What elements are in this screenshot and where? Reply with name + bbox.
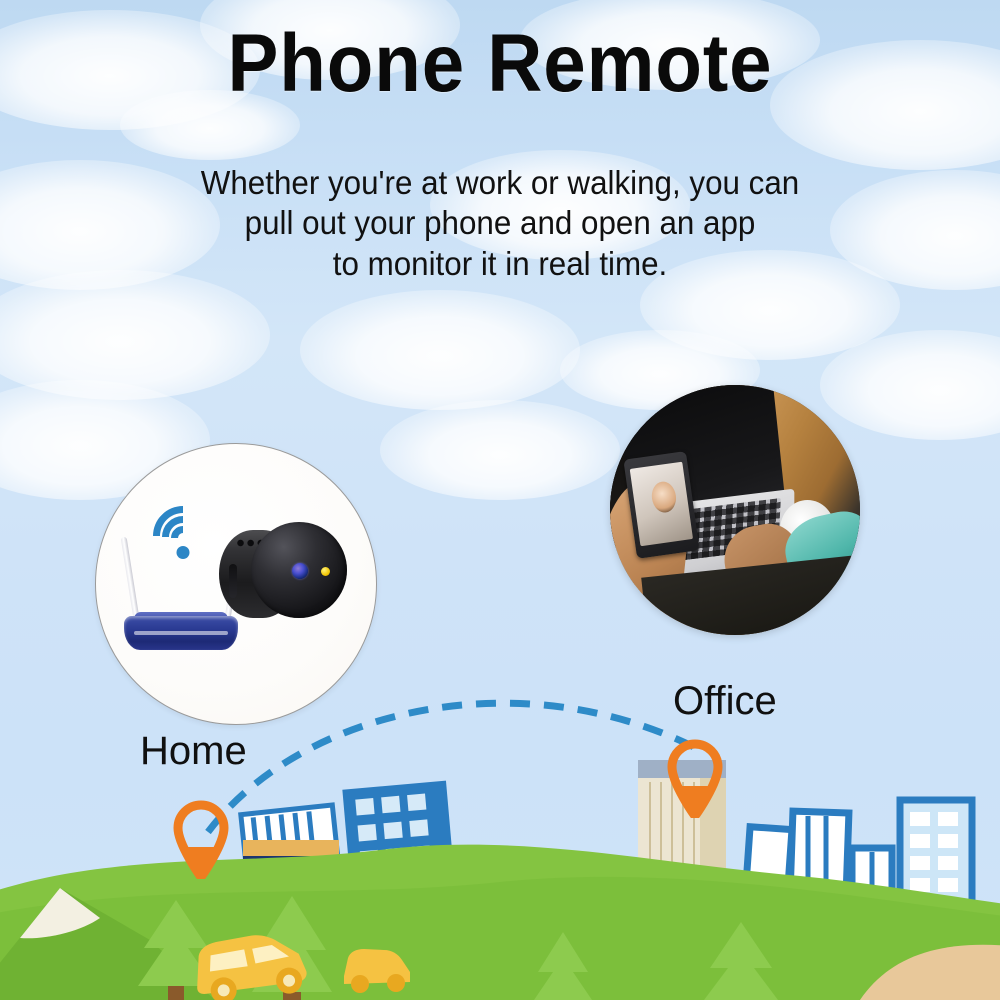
smartphone-screen bbox=[630, 462, 693, 547]
label-office: Office bbox=[673, 679, 777, 724]
wifi-signal-icon bbox=[152, 506, 214, 564]
camera-led-indicator bbox=[321, 567, 330, 576]
subtitle-line-1: Whether you're at work or walking, you c… bbox=[82, 163, 918, 203]
video-call-face bbox=[650, 480, 678, 514]
label-home: Home bbox=[140, 729, 247, 774]
map-pin-home bbox=[170, 797, 232, 879]
camera-lens-icon bbox=[292, 563, 308, 579]
page-title: Phone Remote bbox=[35, 22, 965, 106]
promo-banner: Phone Remote Whether you're at work or w… bbox=[0, 0, 1000, 1000]
photo-content bbox=[610, 385, 860, 635]
device-circle bbox=[95, 443, 377, 725]
page-subtitle: Whether you're at work or walking, you c… bbox=[82, 163, 918, 284]
subtitle-line-3: to monitor it in real time. bbox=[82, 244, 918, 284]
camera-front-face bbox=[251, 522, 347, 618]
router-antenna-left bbox=[121, 537, 140, 623]
mini-camera-device bbox=[219, 522, 347, 632]
phone-app-photo bbox=[610, 385, 860, 635]
map-pin-office bbox=[664, 736, 726, 818]
subtitle-line-2: pull out your phone and open an app bbox=[82, 203, 918, 243]
